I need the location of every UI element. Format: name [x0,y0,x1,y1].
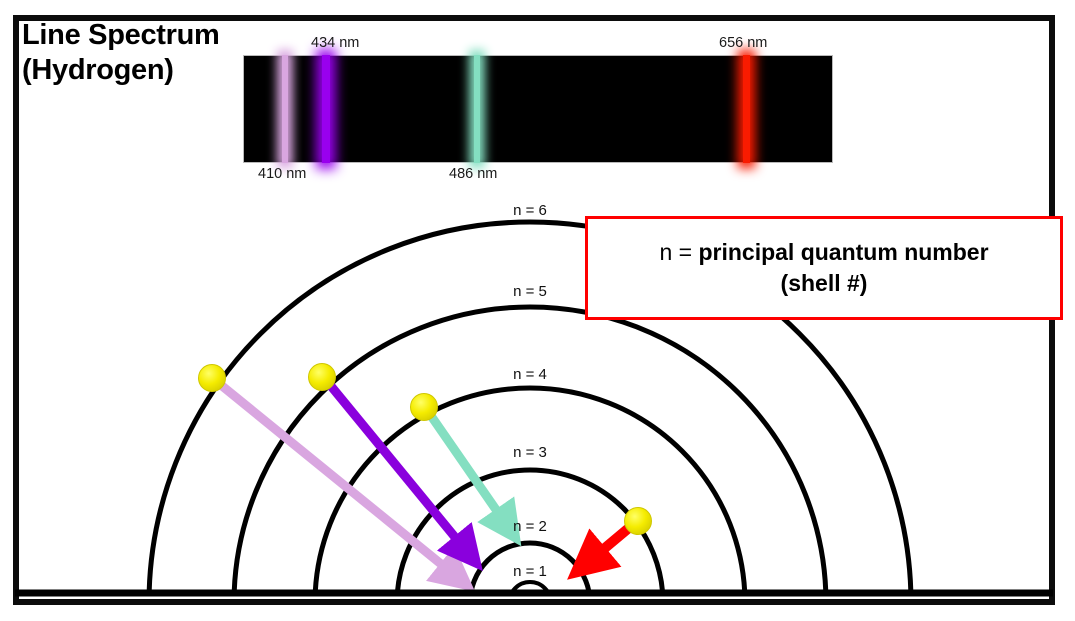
electron-shell-3 [625,508,652,535]
shell-label-5: n = 5 [513,283,547,300]
callout-line-2: (shell #) [781,270,868,297]
electron-shell-5 [309,364,336,391]
shell-label-1: n = 1 [513,563,547,580]
shell-label-4: n = 4 [513,366,547,383]
nucleus [519,598,541,605]
electron-shell-6 [199,365,226,392]
shell-label-2: n = 2 [513,518,547,535]
figure-root: Line Spectrum (Hydrogen) 410 nm 434 nm 4… [0,0,1075,621]
transition-arrow-3-to-2 [587,527,630,563]
callout-bold: principal quantum number [698,239,988,265]
shell-label-6: n = 6 [513,202,547,219]
callout-box: n = principal quantum number (shell #) [585,216,1063,320]
callout-line-1: n = principal quantum number [659,239,988,266]
electron-shell-4 [411,394,438,421]
callout-prefix: n = [659,239,698,265]
transition-arrow-4-to-2 [427,410,508,527]
shell-label-3: n = 3 [513,444,547,461]
